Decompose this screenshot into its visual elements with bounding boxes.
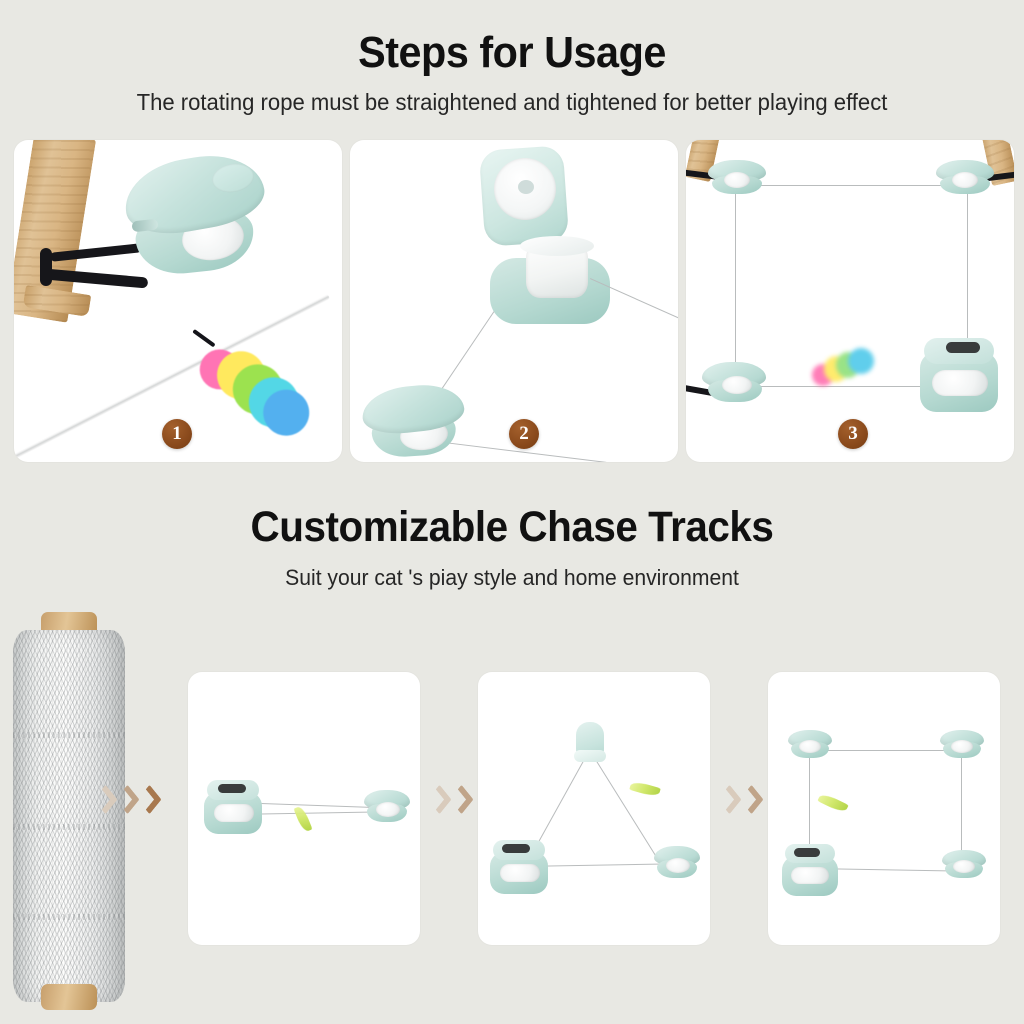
- track-panel-square: [768, 672, 1000, 945]
- section-subtitle-tracks: Suit your cat 's piay style and home env…: [20, 564, 1003, 592]
- clamp-roller-bl: [722, 376, 752, 394]
- motor-unit: [918, 336, 1002, 416]
- track-rope-left: [735, 188, 736, 388]
- spool-band-2: [13, 824, 125, 830]
- clamp-roller-tr: [952, 172, 978, 188]
- spool-cap-bottom: [41, 984, 97, 1010]
- clamp-device: [124, 158, 272, 276]
- tri-clamp-roller: [666, 858, 690, 873]
- chevron-3b: [739, 785, 763, 815]
- step-panel-1: [14, 140, 342, 462]
- motion-band-cyan: [848, 348, 874, 374]
- tri-clamp-apex-collar: [574, 750, 606, 762]
- line-motor-unit: [204, 780, 266, 838]
- feather-stem: [192, 329, 215, 348]
- sq-rope-top: [812, 750, 960, 751]
- sq-roller-tr: [951, 740, 973, 753]
- sq-roller-tl: [799, 740, 821, 753]
- clamp-roller-tl: [724, 172, 750, 188]
- step-panel-2: [350, 140, 678, 462]
- tri-green-feather: [629, 780, 661, 798]
- chevron-2b: [449, 785, 473, 815]
- track-clamp-bottom-left: [702, 362, 770, 406]
- line-green-feather: [293, 805, 312, 833]
- spool-rope-body: [13, 630, 125, 1002]
- track-panel-triangle: [478, 672, 710, 945]
- line-clamp-right: [364, 790, 412, 830]
- rope-spool: [5, 612, 130, 1016]
- sq-motor-slot: [794, 848, 820, 857]
- step-panel-3: [686, 140, 1014, 462]
- section-subtitle-steps: The rotating rope must be straightened a…: [20, 88, 1003, 116]
- step-badge-2: 2: [509, 419, 539, 449]
- elastic-strap-wrap: [40, 248, 52, 286]
- step-badge-3: 3: [838, 419, 868, 449]
- track-panel-line: [188, 672, 420, 945]
- line-motor-roller: [214, 804, 254, 822]
- clamp-device-secondary: [362, 378, 472, 462]
- sq-motor-roller: [791, 867, 829, 884]
- tri-motor-slot: [502, 844, 530, 853]
- track-rope-top: [742, 185, 962, 186]
- sq-motor-bottom-left: [782, 844, 842, 898]
- section-title-steps: Steps for Usage: [31, 28, 994, 78]
- chevron-1c: [137, 785, 161, 815]
- tri-motor-unit: [490, 840, 552, 898]
- chevron-arrow-1: [96, 790, 159, 809]
- track-clamp-top-right: [936, 160, 996, 198]
- line-motor-slot: [218, 784, 246, 793]
- chevron-3a: [717, 785, 741, 815]
- line-clamp-roller: [376, 802, 400, 817]
- tri-motor-roller: [500, 864, 540, 882]
- sq-green-feather: [817, 792, 848, 814]
- rope-spool-top-rim: [520, 236, 594, 256]
- track-clamp-top-left: [708, 160, 768, 198]
- motor-roller: [932, 370, 988, 396]
- tri-clamp-right: [654, 846, 702, 886]
- step-badge-1: 1: [162, 419, 192, 449]
- sq-clamp-bottom-right: [942, 850, 988, 886]
- chevron-2a: [427, 785, 451, 815]
- motor-control-slot: [946, 342, 980, 353]
- sq-clamp-top-left: [788, 730, 834, 766]
- feather-toy-in-motion: [806, 340, 882, 398]
- spool-band-3: [13, 914, 125, 920]
- sq-roller-br: [953, 860, 975, 873]
- sq-clamp-top-right: [940, 730, 986, 766]
- section-title-tracks: Customizable Chase Tracks: [31, 502, 994, 552]
- spool-band-1: [13, 732, 125, 738]
- infographic-root: Steps for Usage The rotating rope must b…: [0, 0, 1024, 1024]
- device-lid-hub: [518, 180, 534, 194]
